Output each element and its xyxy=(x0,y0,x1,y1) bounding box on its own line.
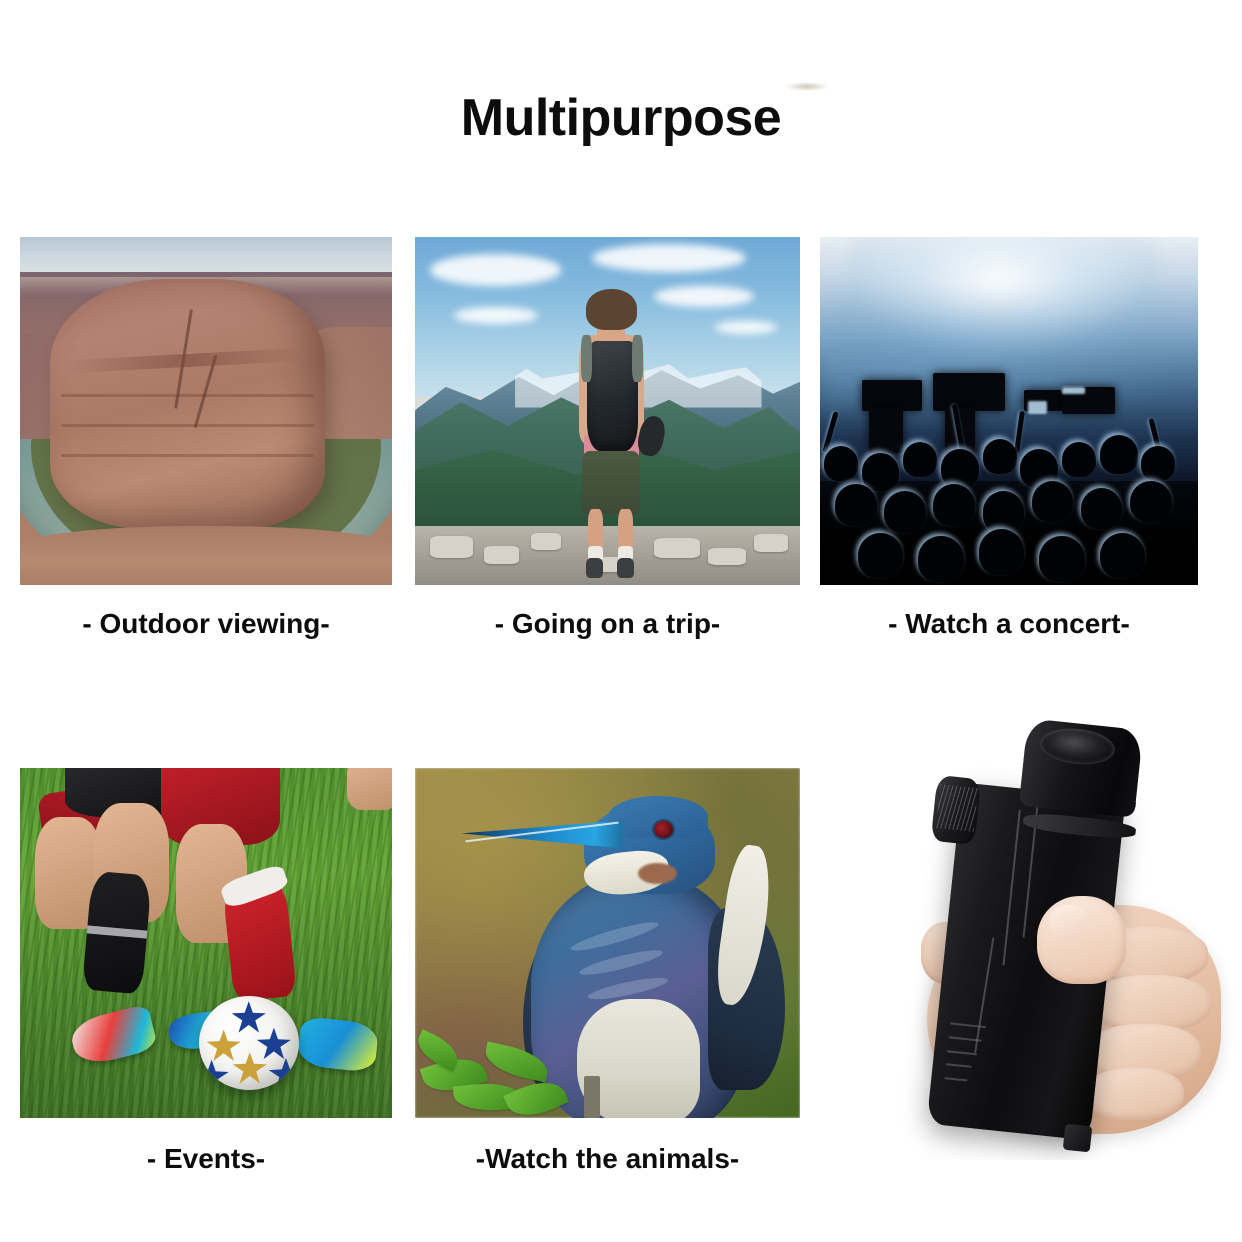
canyon-butte xyxy=(50,279,325,530)
photo-watch-the-animals xyxy=(415,768,800,1118)
soccer-ball xyxy=(199,996,299,1091)
heron-rufous-patch xyxy=(638,863,677,884)
photo-events xyxy=(20,768,392,1118)
caption-watch-a-concert: - Watch a concert- xyxy=(820,608,1198,640)
photo-going-on-a-trip xyxy=(415,237,800,585)
heron-leg xyxy=(584,1076,599,1118)
hiker-figure xyxy=(554,289,670,578)
heron-eye xyxy=(654,821,673,839)
photo-product-monocular xyxy=(900,720,1242,1160)
caption-outdoor-viewing: - Outdoor viewing- xyxy=(20,608,392,640)
canyon-foreground xyxy=(20,526,392,585)
monocular-tripod-mount xyxy=(1063,1123,1093,1152)
photo-watch-a-concert xyxy=(820,237,1198,585)
monocular-knob-ridges xyxy=(935,784,977,832)
caption-events: - Events- xyxy=(20,1143,392,1175)
soccer-black-sock xyxy=(82,871,152,995)
hiker-backpack xyxy=(587,341,638,451)
caption-watch-the-animals: -Watch the animals- xyxy=(415,1143,800,1175)
photo-outdoor-viewing xyxy=(20,237,392,585)
caption-going-on-a-trip: - Going on a trip- xyxy=(415,608,800,640)
thumb-nail xyxy=(1050,905,1088,940)
page-title: Multipurpose xyxy=(0,88,1242,148)
